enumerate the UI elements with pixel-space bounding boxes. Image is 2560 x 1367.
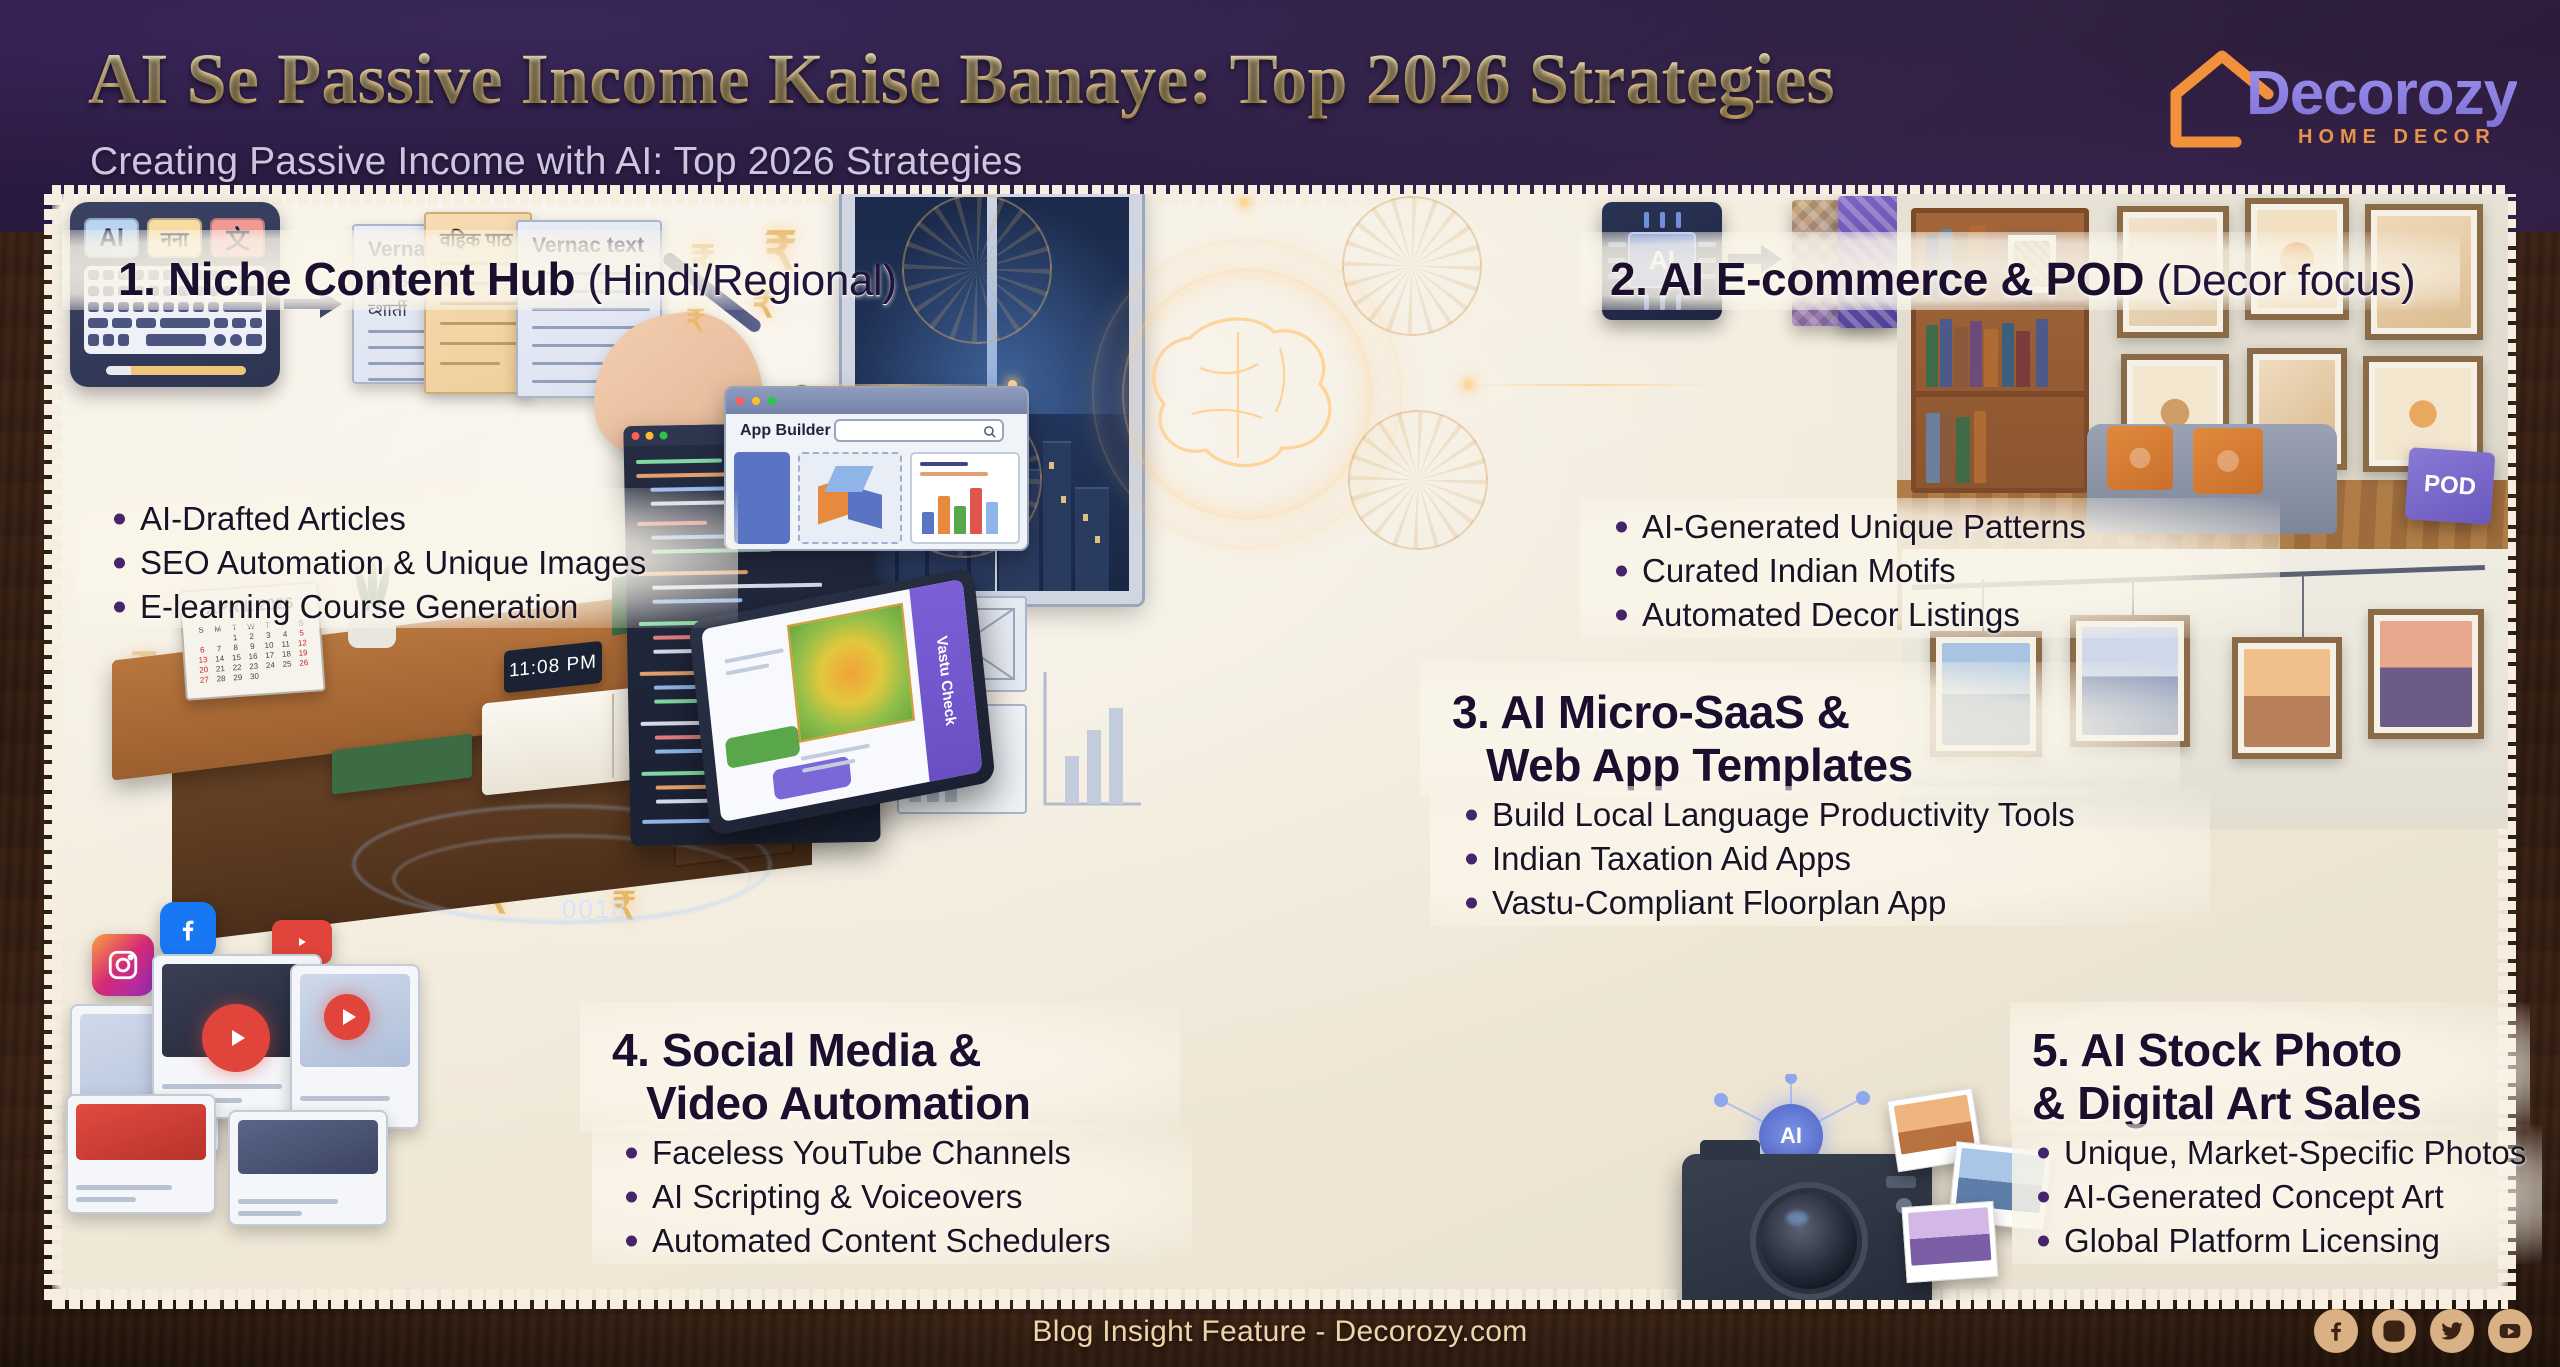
camera-lens bbox=[1750, 1182, 1868, 1300]
stylus-tray bbox=[106, 366, 246, 375]
logo-brand-text: Decorozy bbox=[2246, 58, 2517, 129]
section-4-title-line2: Video Automation bbox=[646, 1077, 1031, 1129]
gallery-frame bbox=[2232, 637, 2342, 759]
social-links[interactable] bbox=[2314, 1309, 2532, 1353]
footer-text: Blog Insight Feature - Decorozy.com bbox=[0, 1315, 2560, 1349]
instagram-icon[interactable] bbox=[2372, 1309, 2416, 1353]
section-5-title-line2: & Digital Art Sales bbox=[2032, 1077, 2421, 1129]
list-item: SEO Automation & Unique Images bbox=[110, 544, 646, 582]
app-builder-window[interactable]: App Builder bbox=[724, 386, 1029, 551]
video-card bbox=[228, 1110, 388, 1226]
section-1-title-text: Niche Content Hub bbox=[168, 253, 575, 305]
gallery-frame bbox=[2070, 615, 2190, 747]
pod-badge: POD bbox=[2405, 447, 2496, 525]
section-5-number: 5. bbox=[2032, 1024, 2070, 1076]
section-4-title-text: Social Media & bbox=[662, 1024, 981, 1076]
page-subtitle: Creating Passive Income with AI: Top 202… bbox=[90, 140, 1022, 184]
list-item: Automated Decor Listings bbox=[1612, 596, 2086, 634]
logo-tagline: HOME DECOR bbox=[2298, 126, 2496, 149]
section-1-bullets: AI-Drafted Articles SEO Automation & Uni… bbox=[110, 500, 646, 632]
twitter-icon[interactable] bbox=[2430, 1309, 2474, 1353]
list-item: E-learning Course Generation bbox=[110, 588, 646, 626]
camera-illustration bbox=[1682, 1154, 1932, 1300]
page-title: AI Se Passive Income Kaise Banaye: Top 2… bbox=[88, 38, 1835, 121]
gallery-frame bbox=[2368, 609, 2484, 739]
list-item: Build Local Language Productivity Tools bbox=[1462, 796, 2075, 834]
section-2-title-text: AI E-commerce & POD bbox=[1658, 253, 2144, 305]
tablet-app-title: Vastu Check bbox=[933, 634, 959, 726]
video-card bbox=[290, 964, 420, 1129]
section-5-bullets: Unique, Market-Specific Photos AI-Genera… bbox=[2034, 1134, 2526, 1266]
photo-polaroid bbox=[1901, 1201, 1998, 1283]
rupee-glyph: ₹ bbox=[686, 304, 705, 339]
list-item: Global Platform Licensing bbox=[2034, 1222, 2526, 1260]
section-2-title: 2. AI E-commerce & POD (Decor focus) bbox=[1610, 252, 2415, 306]
section-4-number: 4. bbox=[612, 1024, 650, 1076]
brain-icon bbox=[1130, 308, 1360, 483]
section-4-bullets: Faceless YouTube Channels AI Scripting &… bbox=[622, 1134, 1111, 1266]
list-item: Indian Taxation Aid Apps bbox=[1462, 840, 2075, 878]
section-5-title-text: AI Stock Photo bbox=[2080, 1024, 2402, 1076]
list-item: Automated Content Schedulers bbox=[622, 1222, 1111, 1260]
axis-chart-icon bbox=[1037, 664, 1147, 814]
section-4-title: 4. Social Media & Video Automation bbox=[612, 1024, 1031, 1130]
facebook-icon[interactable] bbox=[160, 902, 216, 958]
section-1-number: 1. bbox=[118, 253, 156, 305]
ai-brain-network bbox=[1012, 204, 1482, 584]
section-3-number: 3. bbox=[1452, 686, 1490, 738]
app-builder-title: App Builder bbox=[740, 422, 831, 440]
section-3-title: 3. AI Micro-SaaS & Web App Templates bbox=[1452, 686, 1913, 792]
primary-action-button[interactable] bbox=[725, 725, 801, 769]
section-1-qualifier: (Hindi/Regional) bbox=[588, 256, 897, 305]
section-1-title: 1. Niche Content Hub (Hindi/Regional) bbox=[118, 252, 897, 306]
list-item: AI-Drafted Articles bbox=[110, 500, 646, 538]
section-2-qualifier: (Decor focus) bbox=[2156, 256, 2415, 305]
list-item: Faceless YouTube Channels bbox=[622, 1134, 1111, 1172]
play-button-icon[interactable] bbox=[202, 1004, 270, 1072]
list-item: AI-Generated Unique Patterns bbox=[1612, 508, 2086, 546]
facebook-icon[interactable] bbox=[2314, 1309, 2358, 1353]
video-card bbox=[66, 1094, 216, 1214]
cushion bbox=[2107, 426, 2173, 490]
list-item: Curated Indian Motifs bbox=[1612, 552, 2086, 590]
section-3-title-text: AI Micro-SaaS & bbox=[1500, 686, 1849, 738]
sidebar-panel bbox=[734, 452, 790, 544]
instagram-icon[interactable] bbox=[92, 934, 154, 996]
cushion bbox=[2193, 428, 2263, 494]
gallery-frame bbox=[1930, 631, 2042, 757]
list-item: AI Scripting & Voiceovers bbox=[622, 1178, 1111, 1216]
section-2-number: 2. bbox=[1610, 253, 1648, 305]
play-button-icon[interactable] bbox=[324, 994, 370, 1040]
doc2-title: वहिक पाठ bbox=[440, 226, 512, 252]
search-input[interactable] bbox=[834, 419, 1004, 442]
canvas-panel bbox=[798, 452, 902, 544]
chart-panel bbox=[910, 452, 1020, 544]
decorozy-logo[interactable]: Decorozy HOME DECOR bbox=[2158, 30, 2518, 162]
section-3-title-line2: Web App Templates bbox=[1486, 739, 1913, 791]
search-icon bbox=[982, 424, 997, 439]
youtube-icon[interactable] bbox=[2488, 1309, 2532, 1353]
section-3-bullets: Build Local Language Productivity Tools … bbox=[1462, 796, 2075, 928]
section-2-bullets: AI-Generated Unique Patterns Curated Ind… bbox=[1612, 508, 2086, 640]
bookshelf bbox=[1911, 208, 2089, 493]
list-item: Unique, Market-Specific Photos bbox=[2034, 1134, 2526, 1172]
list-item: AI-Generated Concept Art bbox=[2034, 1178, 2526, 1216]
list-item: Vastu-Compliant Floorplan App bbox=[1462, 884, 2075, 922]
section-5-title: 5. AI Stock Photo & Digital Art Sales bbox=[2032, 1024, 2421, 1130]
footer-bar: Blog Insight Feature - Decorozy.com bbox=[0, 1289, 2560, 1367]
vastu-floorplan-map bbox=[787, 603, 915, 743]
